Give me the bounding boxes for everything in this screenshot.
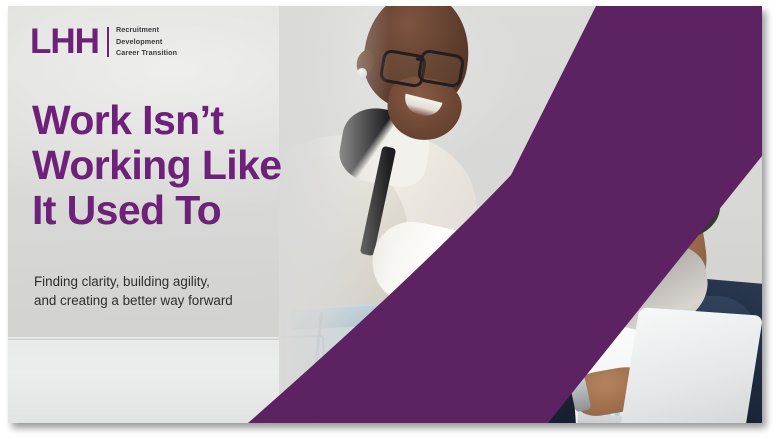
presentation-slide: LHH Recruitment Development Career Trans…: [8, 6, 762, 423]
subheading-line-1: Finding clarity, building agility,: [34, 272, 324, 291]
subheading-line-2: and creating a better way forward: [34, 291, 324, 310]
headline-line-1: Work Isn’t: [32, 98, 332, 143]
man-eyeglass-right: [634, 203, 688, 246]
headline-line-3: It Used To: [32, 188, 332, 233]
logo-divider: [107, 27, 109, 57]
logo-tagline: Recruitment Development Career Transitio…: [116, 24, 177, 58]
lhh-logo: LHH Recruitment Development Career Trans…: [30, 24, 177, 59]
text-column: LHH Recruitment Development Career Trans…: [8, 6, 338, 423]
logo-tagline-line-1: Recruitment: [116, 24, 177, 35]
slide-subheading: Finding clarity, building agility, and c…: [34, 272, 324, 310]
hair-curl: [588, 168, 612, 190]
hair-curl: [650, 142, 684, 168]
headline-line-2: Working Like: [32, 143, 332, 188]
laptop-screen: [621, 307, 762, 423]
lhh-wordmark: LHH: [30, 24, 99, 59]
man-eyeglass-left: [584, 203, 638, 246]
hair-curl: [612, 148, 642, 172]
logo-tagline-line-3: Career Transition: [116, 47, 177, 58]
hero-photograph: [279, 6, 762, 423]
slide-headline: Work Isn’t Working Like It Used To: [32, 98, 332, 233]
logo-tagline-line-2: Development: [116, 36, 177, 47]
